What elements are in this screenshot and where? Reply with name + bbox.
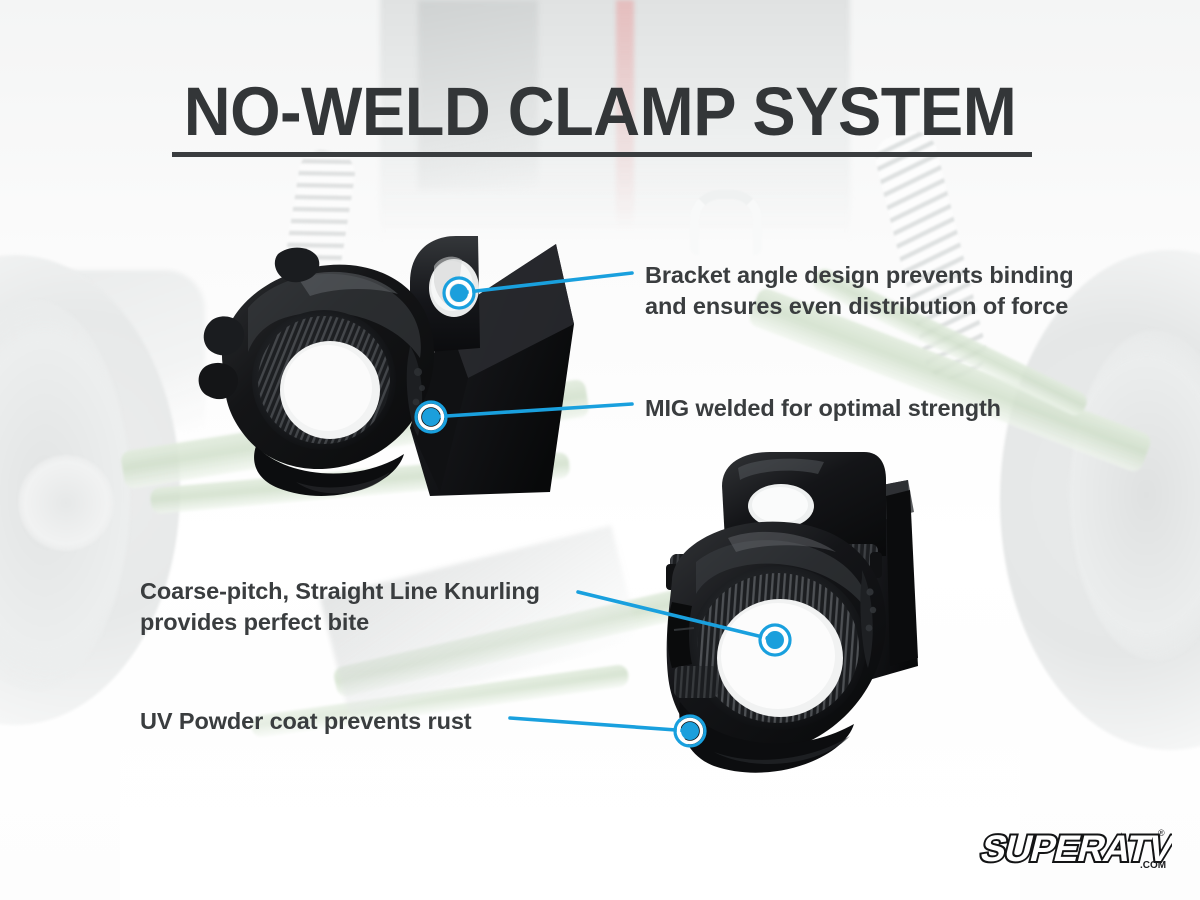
background-shackle — [690, 190, 762, 255]
clamp-upper-left-illustration — [178, 196, 608, 546]
logo-trademark: ® — [1158, 828, 1165, 838]
page-title: NO-WELD CLAMP SYSTEM — [36, 72, 1164, 151]
title-divider — [172, 152, 1032, 157]
callout-label-mig-welded: MIG welded for optimal strength — [645, 393, 1001, 424]
callout-label-knurling: Coarse-pitch, Straight Line Knurling pro… — [140, 576, 540, 638]
clamp-lower-right-illustration — [618, 452, 1018, 822]
background-hub-left — [18, 455, 114, 551]
callout-label-powder-coat: UV Powder coat prevents rust — [140, 706, 472, 737]
logo-tld: .COM — [1140, 860, 1166, 871]
infographic-canvas: NO-WELD CLAMP SYSTEM — [0, 0, 1200, 900]
superatv-logo[interactable]: SUPERATV .COM ® — [962, 816, 1172, 878]
callout-label-bracket-angle: Bracket angle design prevents binding an… — [645, 260, 1074, 322]
